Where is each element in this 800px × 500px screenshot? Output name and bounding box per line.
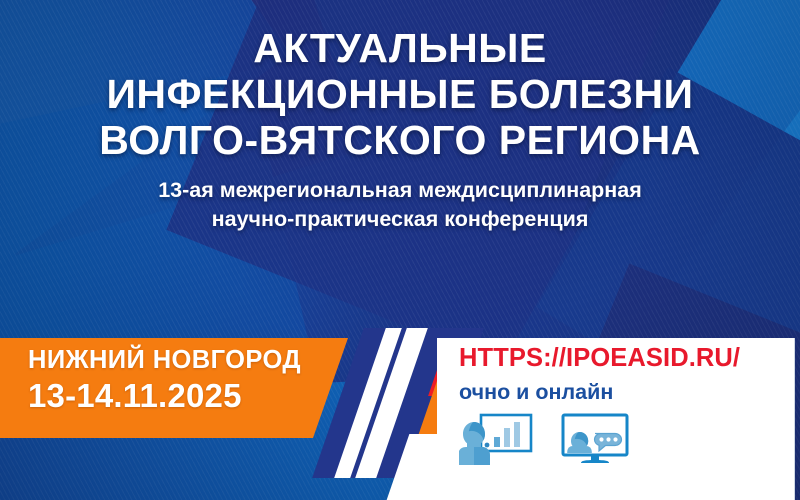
info-card: HTTPS://IPOEASID.RU/ очно и онлайн — [437, 338, 795, 500]
headline-block: АКТУАЛЬНЫЕ ИНФЕКЦИОННЫЕ БОЛЕЗНИ ВОЛГО-ВЯ… — [0, 26, 800, 233]
attendance-mode-label: очно и онлайн — [459, 380, 794, 406]
subtitle-block: 13-ая межрегиональная междисциплинарная … — [18, 176, 782, 234]
conference-banner: АКТУАЛЬНЫЕ ИНФЕКЦИОННЫЕ БОЛЕЗНИ ВОЛГО-ВЯ… — [0, 0, 800, 500]
subtitle-line-2: научно-практическая конференция — [18, 205, 782, 234]
title-line-3: ВОЛГО-ВЯТСКОГО РЕГИОНА — [18, 118, 782, 164]
date-label: 13-14.11.2025 — [28, 375, 348, 416]
subtitle-line-1: 13-ая межрегиональная междисциплинарная — [18, 176, 782, 205]
title-line-2: ИНФЕКЦИОННЫЕ БОЛЕЗНИ — [18, 72, 782, 118]
bottom-strip: НИЖНИЙ НОВГОРОД 13-14.11.2025 HTTPS://IP… — [0, 338, 800, 438]
presenter-chart-icon — [459, 413, 535, 467]
monitor-chat-icon — [559, 413, 635, 467]
attendance-icons — [459, 413, 794, 467]
city-label: НИЖНИЙ НОВГОРОД — [28, 347, 348, 374]
website-url-link[interactable]: HTTPS://IPOEASID.RU/ — [459, 344, 794, 373]
city-date-plate: НИЖНИЙ НОВГОРОД 13-14.11.2025 — [0, 338, 348, 438]
title-line-1: АКТУАЛЬНЫЕ — [18, 26, 782, 72]
